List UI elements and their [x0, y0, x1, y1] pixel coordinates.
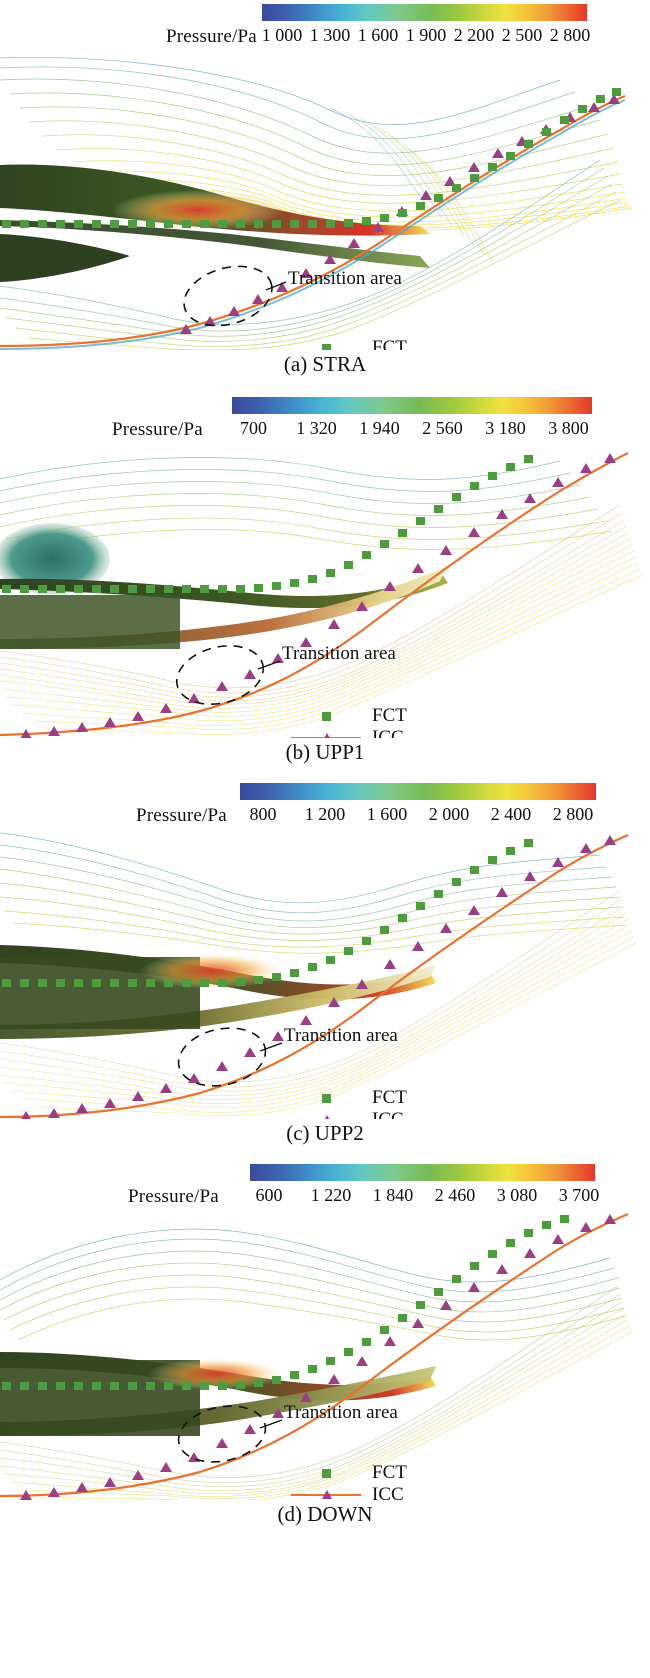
legend-row-fct-a: FCT — [290, 337, 407, 350]
legend-row-fct-d: FCT — [290, 1462, 407, 1484]
contour-plot-a: Transition area FCT ICC — [0, 50, 650, 350]
panel-b-caption: (b) UPP1 — [0, 738, 650, 765]
tick: 2 400 — [480, 804, 542, 825]
legend-label-icc: ICC — [372, 1109, 404, 1119]
contour-lines-upper-d — [0, 1229, 626, 1340]
colorbar-a-ticks: 1 000 1 300 1 600 1 900 2 200 2 500 2 80… — [258, 22, 596, 48]
tick: 2 460 — [424, 1185, 486, 1206]
legend-row-icc-b: ICC — [290, 727, 407, 738]
colorbar-b: Pressure/Pa 700 1 320 1 940 2 560 3 180 … — [0, 393, 650, 443]
tick: 2 800 — [546, 25, 594, 46]
tick: 700 — [222, 418, 285, 439]
contour-lines-upper-c — [0, 833, 626, 953]
fct-swatch-icon — [290, 1094, 362, 1103]
contour-svg-a — [0, 50, 650, 350]
tick: 1 000 — [258, 25, 306, 46]
transition-area-label-b: Transition area — [282, 643, 396, 665]
tick: 3 180 — [474, 418, 537, 439]
tick: 1 900 — [402, 25, 450, 46]
transition-leader-d — [260, 1420, 282, 1428]
transition-area-label-a: Transition area — [288, 268, 402, 290]
colorbar-a: Pressure/Pa 1 000 1 300 1 600 1 900 2 20… — [0, 0, 650, 50]
panel-d-caption: (d) DOWN — [0, 1500, 650, 1527]
tick: 1 320 — [285, 418, 348, 439]
legend-row-icc-d: ICC — [290, 1484, 407, 1500]
legend-label-fct: FCT — [372, 705, 407, 727]
panel-c: Pressure/Pa 800 1 200 1 600 2 000 2 400 … — [0, 779, 650, 1146]
icc-swatch-icon — [290, 732, 362, 738]
transition-area-ellipse-a — [177, 257, 279, 336]
colorbar-c-ticks: 800 1 200 1 600 2 000 2 400 2 800 — [232, 801, 606, 827]
colorbar-a-title: Pressure/Pa — [166, 26, 257, 48]
tick: 3 700 — [548, 1185, 610, 1206]
icc-swatch-icon — [290, 1114, 362, 1119]
tick: 1 940 — [348, 418, 411, 439]
icc-markers-d — [20, 1214, 616, 1500]
contour-svg-b — [0, 443, 650, 738]
colorbar-b-title: Pressure/Pa — [112, 419, 203, 441]
panel-b: Pressure/Pa 700 1 320 1 940 2 560 3 180 … — [0, 393, 650, 765]
contour-plot-b: Transition area FCT ICC — [0, 443, 650, 738]
colorbar-c-title: Pressure/Pa — [136, 805, 227, 827]
tick: 1 600 — [356, 804, 418, 825]
tick: 2 500 — [498, 25, 546, 46]
legend-label-fct: FCT — [372, 1087, 407, 1109]
panel-c-caption: (c) UPP2 — [0, 1119, 650, 1146]
tick: 2 800 — [542, 804, 604, 825]
legend-a: FCT ICC — [290, 337, 407, 350]
colorbar-c-gradient — [240, 783, 596, 800]
legend-label-fct: FCT — [372, 337, 407, 350]
colorbar-b-ticks: 700 1 320 1 940 2 560 3 180 3 800 — [222, 415, 602, 441]
contour-plot-d: Transition area FCT ICC — [0, 1210, 650, 1500]
transition-area-label-d: Transition area — [284, 1402, 398, 1424]
legend-label-icc: ICC — [372, 1484, 404, 1500]
tick: 2 560 — [411, 418, 474, 439]
contour-svg-d — [0, 1210, 650, 1500]
legend-label-icc: ICC — [372, 727, 404, 738]
tick: 2 000 — [418, 804, 480, 825]
tick: 3 080 — [486, 1185, 548, 1206]
legend-row-icc-c: ICC — [290, 1109, 407, 1119]
icc-swatch-icon — [290, 1489, 362, 1500]
tick: 1 600 — [354, 25, 402, 46]
panel-a-caption: (a) STRA — [0, 350, 650, 377]
colorbar-d: Pressure/Pa 600 1 220 1 840 2 460 3 080 … — [0, 1160, 650, 1210]
legend-row-fct-c: FCT — [290, 1087, 407, 1109]
tick: 1 200 — [294, 804, 356, 825]
contour-svg-c — [0, 829, 650, 1119]
tick: 800 — [232, 804, 294, 825]
tick: 1 300 — [306, 25, 354, 46]
transition-area-ellipse-c — [173, 1020, 271, 1093]
colorbar-a-gradient — [262, 4, 587, 21]
tick: 1 840 — [362, 1185, 424, 1206]
fct-swatch-icon — [290, 712, 362, 721]
tick: 600 — [238, 1185, 300, 1206]
legend-c: FCT ICC — [290, 1087, 407, 1119]
colorbar-d-title: Pressure/Pa — [128, 1186, 219, 1208]
colorbar-d-gradient — [250, 1164, 595, 1181]
colorbar-d-ticks: 600 1 220 1 840 2 460 3 080 3 700 — [238, 1182, 610, 1208]
contour-plot-c: Transition area FCT ICC — [0, 829, 650, 1119]
panel-d: Pressure/Pa 600 1 220 1 840 2 460 3 080 … — [0, 1160, 650, 1527]
legend-b: FCT ICC — [290, 705, 407, 738]
legend-label-fct: FCT — [372, 1462, 407, 1484]
blade-core-b — [0, 595, 180, 649]
panel-a: Pressure/Pa 1 000 1 300 1 600 1 900 2 20… — [0, 0, 650, 377]
tick: 1 220 — [300, 1185, 362, 1206]
tick: 3 800 — [537, 418, 600, 439]
fct-swatch-icon — [290, 344, 362, 351]
transition-area-label-c: Transition area — [284, 1025, 398, 1047]
colorbar-c: Pressure/Pa 800 1 200 1 600 2 000 2 400 … — [0, 779, 650, 829]
tick: 2 200 — [450, 25, 498, 46]
legend-row-fct-b: FCT — [290, 705, 407, 727]
fct-swatch-icon — [290, 1469, 362, 1478]
legend-d: FCT ICC — [290, 1462, 407, 1500]
colorbar-b-gradient — [232, 397, 592, 414]
